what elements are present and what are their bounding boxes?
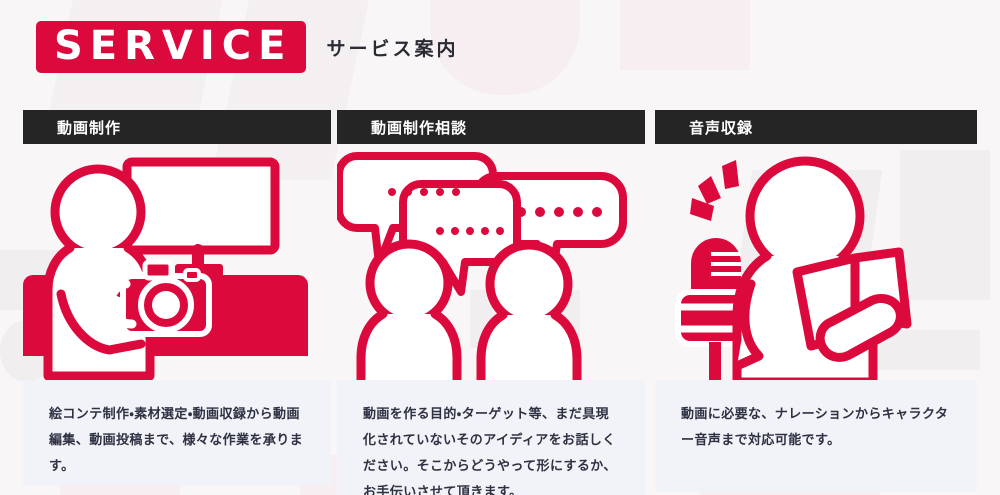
card-description-panel: 絵コンテ制作・素材選定・動画収録から動画編集、動画投稿まで、様々な作業を承ります… xyxy=(23,380,331,485)
service-card-video-production-consulting: 動画制作相談 xyxy=(337,110,645,495)
card-description-panel: 動画を作る目的・ターゲット等、まだ具現化されていないそのアイディアをお話しくださ… xyxy=(337,380,645,495)
illustration-person-with-camera-and-monitor xyxy=(23,144,331,380)
card-description: 動画に必要な、ナレーションからキャラクター音声まで対応可能です。 xyxy=(681,402,951,454)
card-description-panel: 動画に必要な、ナレーションからキャラクター音声まで対応可能です。 xyxy=(655,380,977,492)
section-subtitle: サービス案内 xyxy=(326,34,458,61)
card-title: 音声収録 xyxy=(689,117,753,138)
section-title: SERVICE サービス案内 xyxy=(36,21,458,73)
card-title: 動画制作 xyxy=(57,117,121,138)
card-title: 動画制作相談 xyxy=(371,117,467,138)
card-description: 絵コンテ制作・素材選定・動画収録から動画編集、動画投稿まで、様々な作業を承ります… xyxy=(49,402,305,480)
card-description: 動画を作る目的・ターゲット等、まだ具現化されていないそのアイディアをお話しくださ… xyxy=(363,402,619,495)
illustration-two-people-with-speech-bubbles xyxy=(337,144,645,380)
service-section: SERVICE サービス案内 動画制作 xyxy=(0,0,1000,495)
illustration-person-with-microphone-and-script xyxy=(655,144,977,380)
service-badge: SERVICE xyxy=(36,21,306,73)
service-card-video-production: 動画制作 xyxy=(23,110,331,485)
service-card-voice-recording: 音声収録 xyxy=(655,110,977,492)
card-header: 動画制作 xyxy=(23,110,331,144)
card-header: 音声収録 xyxy=(655,110,977,144)
card-header: 動画制作相談 xyxy=(337,110,645,144)
service-badge-label: SERVICE xyxy=(54,26,292,66)
